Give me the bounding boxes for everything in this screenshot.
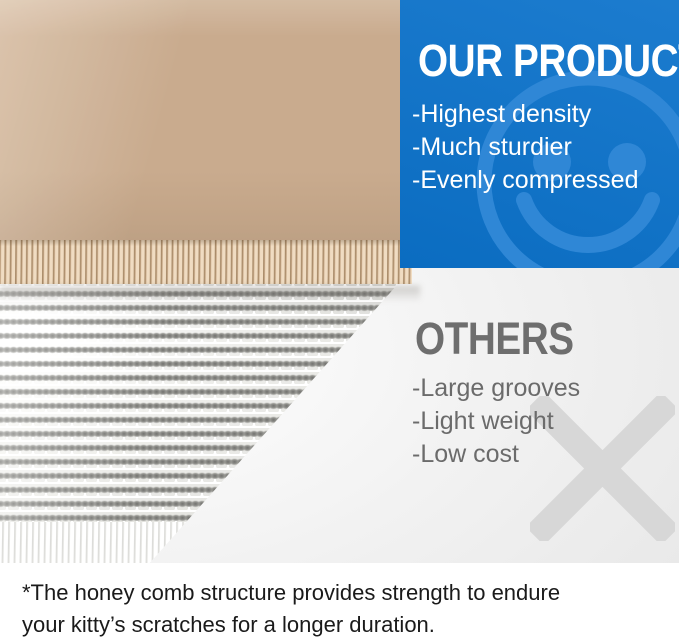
our-product-feature-list: -Highest density -Much sturdier -Evenly … <box>412 98 638 197</box>
caption-line-1: *The honey comb structure provides stren… <box>22 577 657 609</box>
list-item: -Much sturdier <box>412 131 638 164</box>
list-item: -Highest density <box>412 98 638 131</box>
list-item: -Evenly compressed <box>412 164 638 197</box>
tan-mat-dropshadow <box>0 286 420 302</box>
list-item: -Low cost <box>412 438 580 471</box>
footnote-caption: *The honey comb structure provides stren… <box>0 563 679 643</box>
list-item: -Large grooves <box>412 372 580 405</box>
our-product-heading: OUR PRODUCT <box>418 38 679 83</box>
product-photo-area: OUR PRODUCT -Highest density -Much sturd… <box>0 0 679 563</box>
others-heading: OTHERS <box>415 316 574 361</box>
list-item: -Light weight <box>412 405 580 438</box>
tan-mat-surface <box>0 0 412 240</box>
our-product-panel: OUR PRODUCT -Highest density -Much sturd… <box>400 0 679 268</box>
tan-mat-edge <box>0 240 412 284</box>
caption-line-2: your kitty’s scratches for a longer dura… <box>22 609 657 641</box>
comparison-infographic: OUR PRODUCT -Highest density -Much sturd… <box>0 0 679 643</box>
others-panel: OTHERS -Large grooves -Light weight -Low… <box>400 268 679 563</box>
others-feature-list: -Large grooves -Light weight -Low cost <box>412 372 580 471</box>
tan-mat-image <box>0 0 412 284</box>
